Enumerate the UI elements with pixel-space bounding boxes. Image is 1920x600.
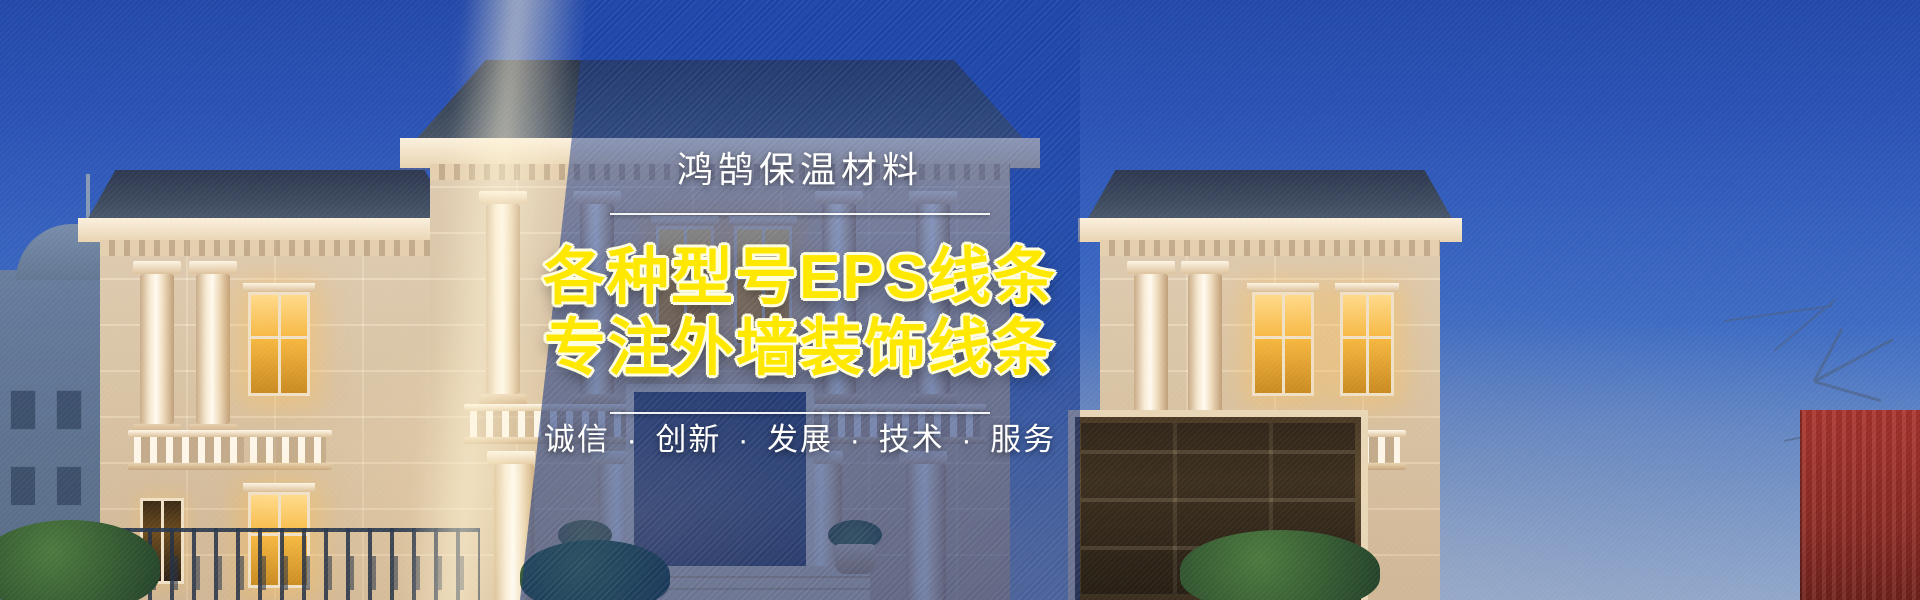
divider-top xyxy=(610,213,990,215)
hero-banner: 鸿鹄保温材料 各种型号EPS线条 专注外墙装饰线条 诚信 · 创新 · 发展 ·… xyxy=(0,0,1920,600)
headline: 各种型号EPS线条 专注外墙装饰线条 xyxy=(543,243,1057,384)
banner-content: 鸿鹄保温材料 各种型号EPS线条 专注外墙装饰线条 诚信 · 创新 · 发展 ·… xyxy=(520,0,1080,600)
shrub-right xyxy=(1180,530,1380,600)
brand-subtitle: 鸿鹄保温材料 xyxy=(677,141,923,193)
tagline: 诚信 · 创新 · 发展 · 技术 · 服务 xyxy=(544,414,1056,459)
tagline-separator-0: · xyxy=(620,422,644,457)
tagline-separator-1: · xyxy=(732,422,756,457)
headline-line-1: 各种型号EPS线条 xyxy=(543,243,1057,314)
tagline-item-4: 服务 xyxy=(990,422,1056,457)
tagline-item-0: 诚信 xyxy=(544,422,610,457)
tagline-item-2: 发展 xyxy=(767,422,833,457)
headline-line-2: 专注外墙装饰线条 xyxy=(543,314,1057,385)
tagline-item-3: 技术 xyxy=(879,422,945,457)
red-container-right xyxy=(1800,410,1920,600)
tagline-separator-2: · xyxy=(844,422,868,457)
tagline-separator-3: · xyxy=(955,422,979,457)
tagline-item-1: 创新 xyxy=(655,422,721,457)
